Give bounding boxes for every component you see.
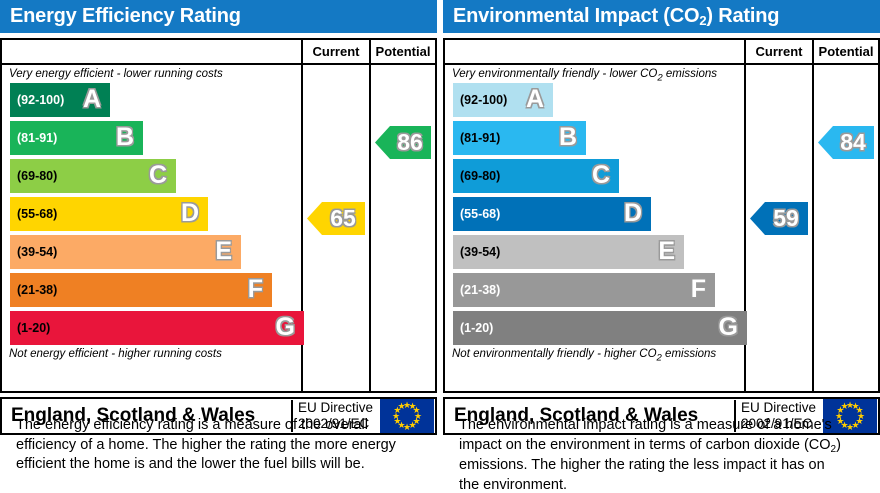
band-bar-g: (1-20)G — [10, 311, 304, 345]
band-bar-c: (69-80)C — [453, 159, 619, 193]
rating-band-a: (92-100)A — [445, 83, 878, 117]
energy-current-rating-value: 65 — [330, 205, 356, 231]
band-bar-a: (92-100)A — [10, 83, 110, 117]
band-letter-a: A — [83, 87, 110, 112]
band-letter-e: E — [658, 239, 684, 264]
environmental-title-subscript: 2 — [699, 13, 706, 28]
header-potential: Potential — [371, 40, 435, 63]
band-letter-g: G — [276, 315, 304, 340]
band-bar-g: (1-20)G — [453, 311, 747, 345]
band-range-a: (92-100) — [453, 93, 507, 107]
environmental-title-tail: ) Rating — [706, 5, 779, 27]
band-range-g: (1-20) — [10, 321, 50, 335]
band-range-c: (69-80) — [453, 169, 500, 183]
band-range-d: (55-68) — [10, 207, 57, 221]
environmental-directive-line1: EU Directive — [741, 400, 816, 416]
band-bar-b: (81-91)B — [10, 121, 143, 155]
band-range-f: (21-38) — [10, 283, 57, 297]
band-range-b: (81-91) — [453, 131, 500, 145]
energy-efficiency-certificate: Energy Efficiency Rating Current Potenti… — [0, 0, 437, 493]
band-letter-e: E — [215, 239, 241, 264]
rating-band-d: (55-68)D — [2, 197, 435, 231]
band-bar-f: (21-38)F — [453, 273, 715, 307]
band-letter-g: G — [719, 315, 747, 340]
band-bar-e: (39-54)E — [453, 235, 684, 269]
epc-rating-chart-page: Energy Efficiency Rating Current Potenti… — [0, 0, 880, 493]
band-range-c: (69-80) — [10, 169, 57, 183]
band-range-e: (39-54) — [453, 245, 500, 259]
rating-band-g: (1-20)G — [2, 311, 435, 345]
band-range-e: (39-54) — [10, 245, 57, 259]
environmental-band-list: (92-100)A(81-91)B(69-80)C(55-68)D(39-54)… — [445, 83, 878, 345]
band-range-b: (81-91) — [10, 131, 57, 145]
band-letter-b: B — [116, 125, 143, 150]
band-letter-f: F — [691, 277, 715, 302]
header-potential: Potential — [814, 40, 878, 63]
energy-band-list: (92-100)A(81-91)B(69-80)C(55-68)D(39-54)… — [2, 83, 435, 345]
header-current: Current — [746, 40, 812, 63]
band-bar-e: (39-54)E — [10, 235, 241, 269]
environmental-table-header-row: Current Potential — [445, 40, 878, 65]
energy-efficiency-title-text: Energy Efficiency Rating — [10, 5, 241, 27]
band-letter-a: A — [526, 87, 553, 112]
band-bar-c: (69-80)C — [10, 159, 176, 193]
rating-band-f: (21-38)F — [2, 273, 435, 307]
rating-band-d: (55-68)D — [445, 197, 878, 231]
rating-band-c: (69-80)C — [445, 159, 878, 193]
band-letter-c: C — [592, 163, 619, 188]
eu-flag-star: ★ — [840, 402, 849, 411]
environmental-top-caption-b: emissions — [663, 68, 717, 80]
energy-table-header-row: Current Potential — [2, 40, 435, 65]
energy-efficiency-title: Energy Efficiency Rating — [0, 0, 437, 33]
band-bar-d: (55-68)D — [10, 197, 208, 231]
environmental-title-text: Environmental Impact (CO — [453, 5, 699, 27]
band-bar-f: (21-38)F — [10, 273, 272, 307]
band-letter-b: B — [559, 125, 586, 150]
eu-flag-star: ★ — [397, 402, 406, 411]
rating-band-a: (92-100)A — [2, 83, 435, 117]
rating-band-g: (1-20)G — [445, 311, 878, 345]
energy-directive-line1: EU Directive — [298, 400, 373, 416]
rating-band-f: (21-38)F — [445, 273, 878, 307]
band-letter-c: C — [149, 163, 176, 188]
header-current: Current — [303, 40, 369, 63]
rating-band-c: (69-80)C — [2, 159, 435, 193]
band-letter-d: D — [624, 201, 651, 226]
rating-band-b: (81-91)B — [445, 121, 878, 155]
band-range-f: (21-38) — [453, 283, 500, 297]
energy-explanation-text: The energy efficiency rating is a measur… — [0, 416, 400, 475]
environmental-bottom-caption-b: emissions — [662, 348, 716, 360]
band-letter-d: D — [181, 201, 208, 226]
band-range-d: (55-68) — [453, 207, 500, 221]
band-letter-f: F — [248, 277, 272, 302]
energy-potential-rating-value: 86 — [397, 129, 423, 155]
environmental-current-rating-value: 59 — [773, 205, 799, 231]
environmental-explanation-sub: 2 — [831, 444, 837, 455]
band-bar-a: (92-100)A — [453, 83, 553, 117]
environmental-potential-rating-value: 84 — [840, 129, 866, 155]
rating-band-b: (81-91)B — [2, 121, 435, 155]
environmental-explanation-a: The environmental impact rating is a mea… — [459, 417, 832, 453]
environmental-impact-certificate: Environmental Impact (CO2) Rating Curren… — [443, 0, 880, 493]
band-range-a: (92-100) — [10, 93, 64, 107]
energy-efficiency-table: Current Potential Very energy efficient … — [0, 38, 437, 393]
environmental-explanation-text: The environmental impact rating is a mea… — [443, 416, 843, 493]
environmental-impact-table: Current Potential Very environmentally f… — [443, 38, 880, 393]
environmental-top-caption-a: Very environmentally friendly - lower CO — [452, 68, 657, 80]
band-bar-d: (55-68)D — [453, 197, 651, 231]
environmental-bottom-caption-a: Not environmentally friendly - higher CO — [452, 348, 657, 360]
rating-band-e: (39-54)E — [445, 235, 878, 269]
band-range-g: (1-20) — [453, 321, 493, 335]
band-bar-b: (81-91)B — [453, 121, 586, 155]
environmental-impact-title: Environmental Impact (CO2) Rating — [443, 0, 880, 33]
rating-band-e: (39-54)E — [2, 235, 435, 269]
